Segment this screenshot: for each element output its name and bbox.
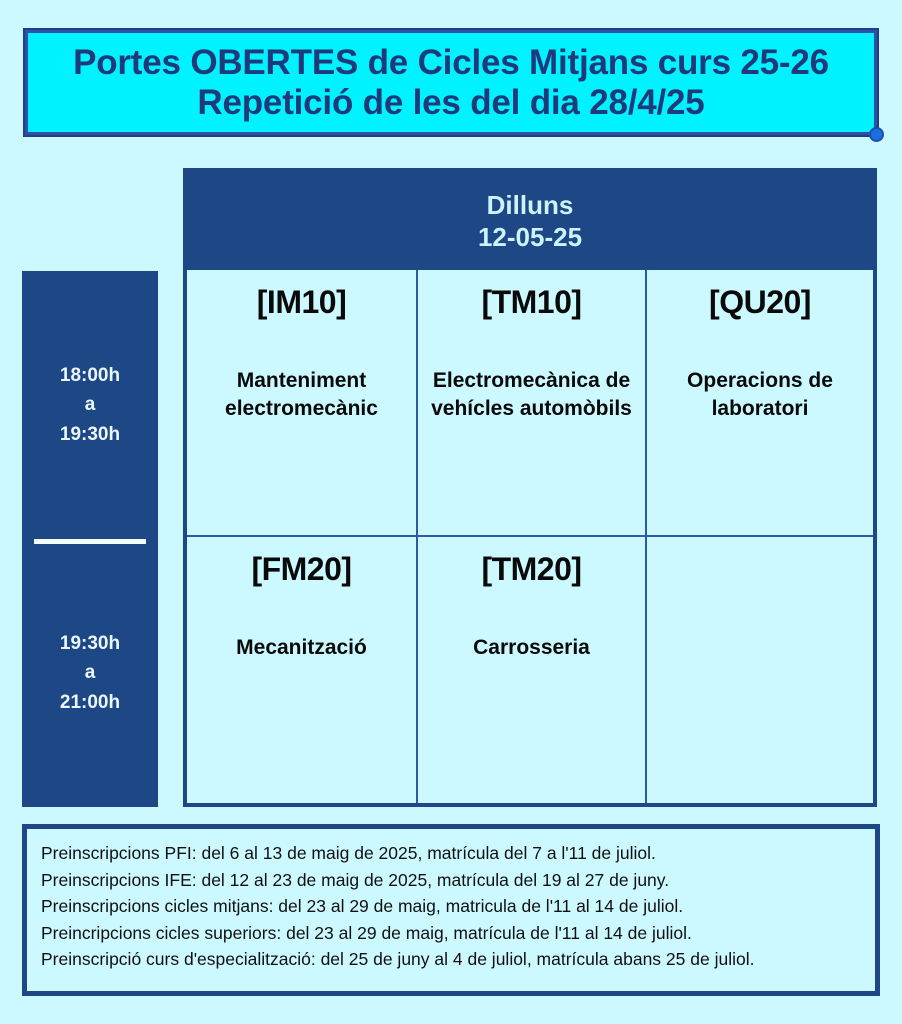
note-line-pfi: Preinscripcions PFI: del 6 al 13 de maig… [41, 840, 861, 867]
course-name: Carrosseria [430, 634, 633, 662]
time-slot-1-start: 18:00h [60, 361, 120, 390]
table-row: [FM20] Mecanització [TM20] Carrosseria [187, 535, 873, 803]
title-line-1: Portes OBERTES de Cicles Mitjans curs 25… [73, 43, 829, 82]
schedule-cell-r2c1[interactable]: [FM20] Mecanització [187, 537, 416, 803]
course-code: [TM10] [430, 284, 633, 321]
note-line-cicles-mitjans: Preinscripcions cicles mitjans: del 23 a… [41, 893, 861, 920]
table-row: [IM10] Manteniment electromecànic [TM10]… [187, 270, 873, 535]
course-code: [TM20] [430, 551, 633, 588]
course-code: [IM10] [199, 284, 404, 321]
schedule-table-header: Dilluns 12-05-25 [187, 172, 873, 270]
course-name: Manteniment electromecànic [199, 367, 404, 423]
note-line-especialitzacio: Preinscripció curs d'especialització: de… [41, 946, 861, 973]
time-slot-2-start: 19:30h [60, 629, 120, 658]
schedule-cell-r2c3-empty[interactable] [645, 537, 873, 803]
time-slot-2: 19:30h a 21:00h [22, 539, 158, 807]
course-name: Operacions de laboratori [659, 367, 861, 423]
note-line-ife: Preinscripcions IFE: del 12 al 23 de mai… [41, 867, 861, 894]
time-column: 18:00h a 19:30h 19:30h a 21:00h [22, 271, 158, 807]
note-line-cicles-superiors: Preincripcions cicles superiors: del 23 … [41, 920, 861, 947]
time-slot-1-separator: a [85, 390, 96, 419]
schedule-cell-r2c2[interactable]: [TM20] Carrosseria [416, 537, 645, 803]
schedule-cell-r1c2[interactable]: [TM10] Electromecànica de vehícles autom… [416, 270, 645, 535]
course-name: Mecanització [199, 634, 404, 662]
enrollment-notes-box: Preinscripcions PFI: del 6 al 13 de maig… [22, 824, 880, 996]
time-slot-1: 18:00h a 19:30h [22, 271, 158, 539]
time-slot-2-separator: a [85, 658, 96, 687]
course-code: [QU20] [659, 284, 861, 321]
title-banner[interactable]: Portes OBERTES de Cicles Mitjans curs 25… [25, 30, 877, 135]
header-date-label: 12-05-25 [478, 221, 582, 254]
title-line-2: Repetició de les del dia 28/4/25 [197, 83, 704, 122]
time-slot-2-end: 21:00h [60, 688, 120, 717]
time-slot-1-end: 19:30h [60, 420, 120, 449]
course-name: Electromecànica de vehícles automòbils [430, 367, 633, 423]
header-day-label: Dilluns [487, 189, 574, 222]
course-code: [FM20] [199, 551, 404, 588]
schedule-table: Dilluns 12-05-25 [IM10] Manteniment elec… [183, 168, 877, 807]
schedule-cell-r1c3[interactable]: [QU20] Operacions de laboratori [645, 270, 873, 535]
schedule-cell-r1c1[interactable]: [IM10] Manteniment electromecànic [187, 270, 416, 535]
resize-handle-dot[interactable] [869, 127, 884, 142]
time-slot-divider [34, 539, 146, 544]
title-banner-container: Portes OBERTES de Cicles Mitjans curs 25… [25, 30, 877, 135]
